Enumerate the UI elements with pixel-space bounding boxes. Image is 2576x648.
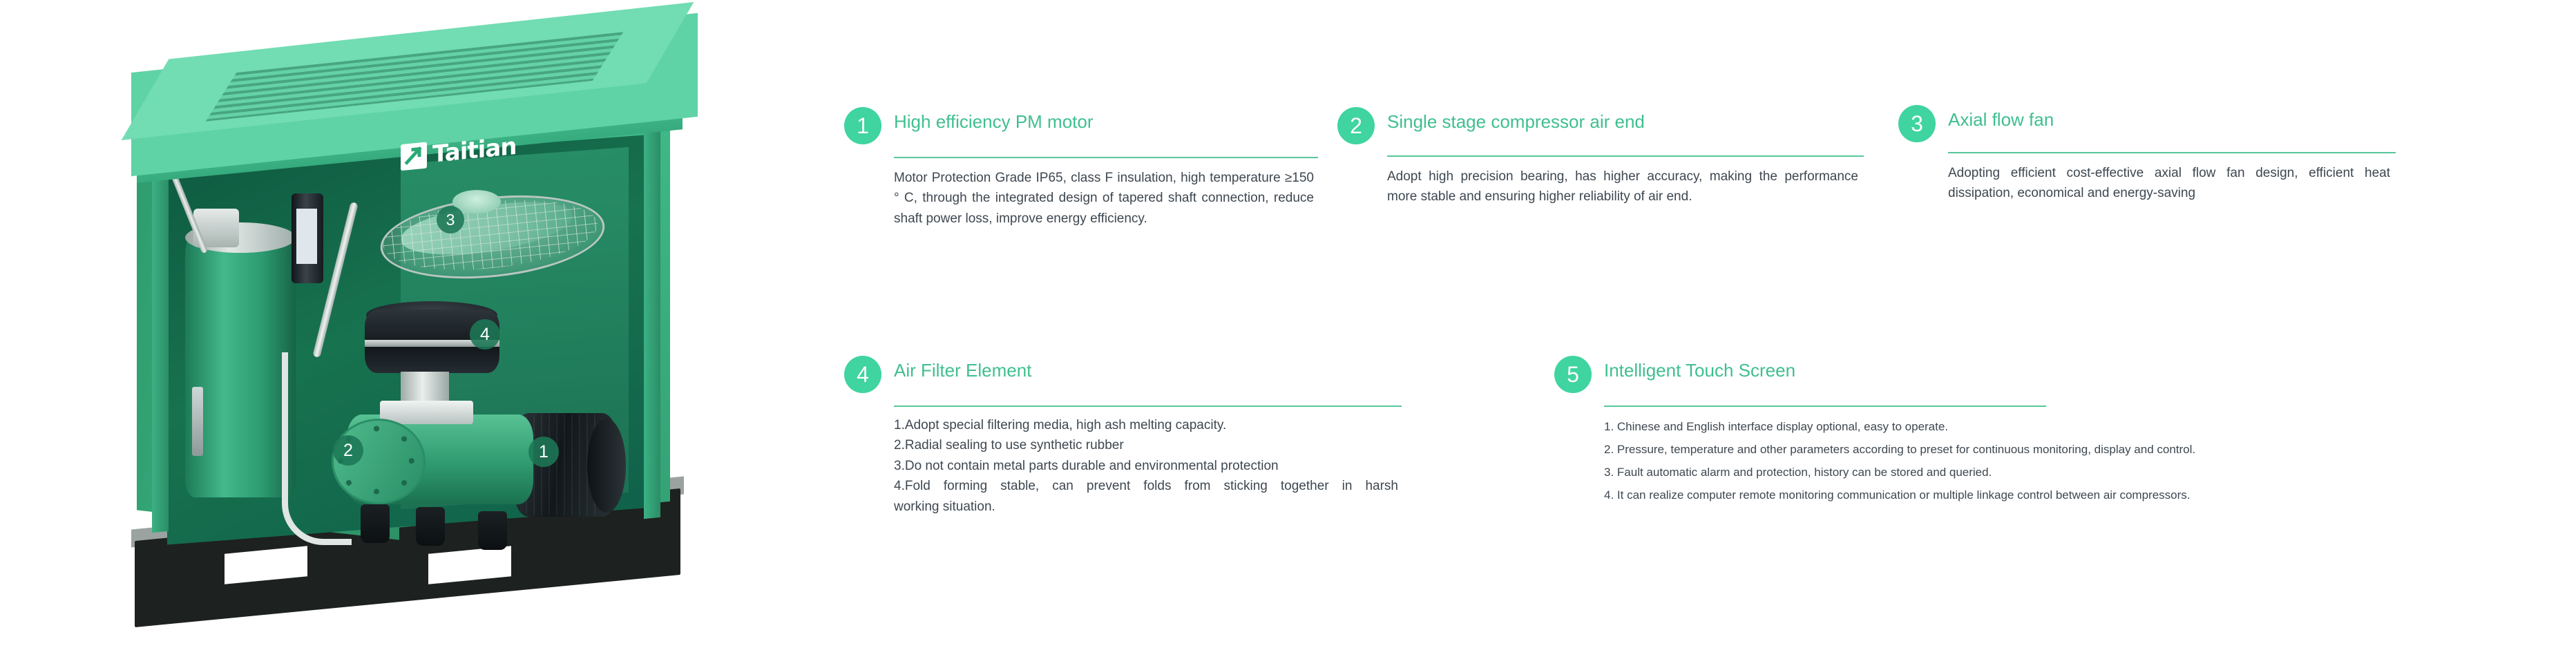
feature-badge-3: 3 <box>1898 105 1936 142</box>
feature-line: 1.Adopt special filtering media, high as… <box>894 415 1398 435</box>
feature-divider-1 <box>894 157 1318 158</box>
feature-line: 2.Radial sealing to use synthetic rubber <box>894 435 1398 455</box>
feature-body-4: 1.Adopt special filtering media, high as… <box>894 415 1398 517</box>
feature-badge-4: 4 <box>844 356 881 393</box>
feature-title-2: Single stage compressor air end <box>1387 111 1645 133</box>
feature-line: 2. Pressure, temperature and other param… <box>1604 438 2385 461</box>
feature-title-4: Air Filter Element <box>894 360 1031 381</box>
feature-badge-2: 2 <box>1337 107 1375 144</box>
feature-title-1: High efficiency PM motor <box>894 111 1094 133</box>
feature-line: 3. Fault automatic alarm and protection,… <box>1604 461 2385 484</box>
feature-badge-5: 5 <box>1554 356 1592 393</box>
feature-line: 3.Do not contain metal parts durable and… <box>894 456 1398 476</box>
feature-body-5: 1. Chinese and English interface display… <box>1604 415 2385 507</box>
feature-badge-1: 1 <box>844 107 881 144</box>
feature-divider-4 <box>894 406 1402 407</box>
feature-divider-3 <box>1948 152 2396 153</box>
feature-list: 1 High efficiency PM motor Motor Protect… <box>0 0 2576 648</box>
feature-body-1: Motor Protection Grade IP65, class F ins… <box>894 168 1314 229</box>
feature-title-5: Intelligent Touch Screen <box>1604 360 1795 381</box>
feature-line: 4.Fold forming stable, can prevent folds… <box>894 476 1398 496</box>
feature-line: 1. Chinese and English interface display… <box>1604 415 2385 438</box>
feature-divider-5 <box>1604 406 2046 407</box>
feature-divider-2 <box>1387 155 1864 157</box>
feature-body-3: Adopting efficient cost-effective axial … <box>1948 163 2390 204</box>
feature-line: 4. It can realize computer remote monito… <box>1604 484 2385 506</box>
feature-body-2: Adopt high precision bearing, has higher… <box>1387 166 1858 207</box>
feature-title-3: Axial flow fan <box>1948 109 2054 131</box>
feature-line: working situation. <box>894 497 1398 517</box>
